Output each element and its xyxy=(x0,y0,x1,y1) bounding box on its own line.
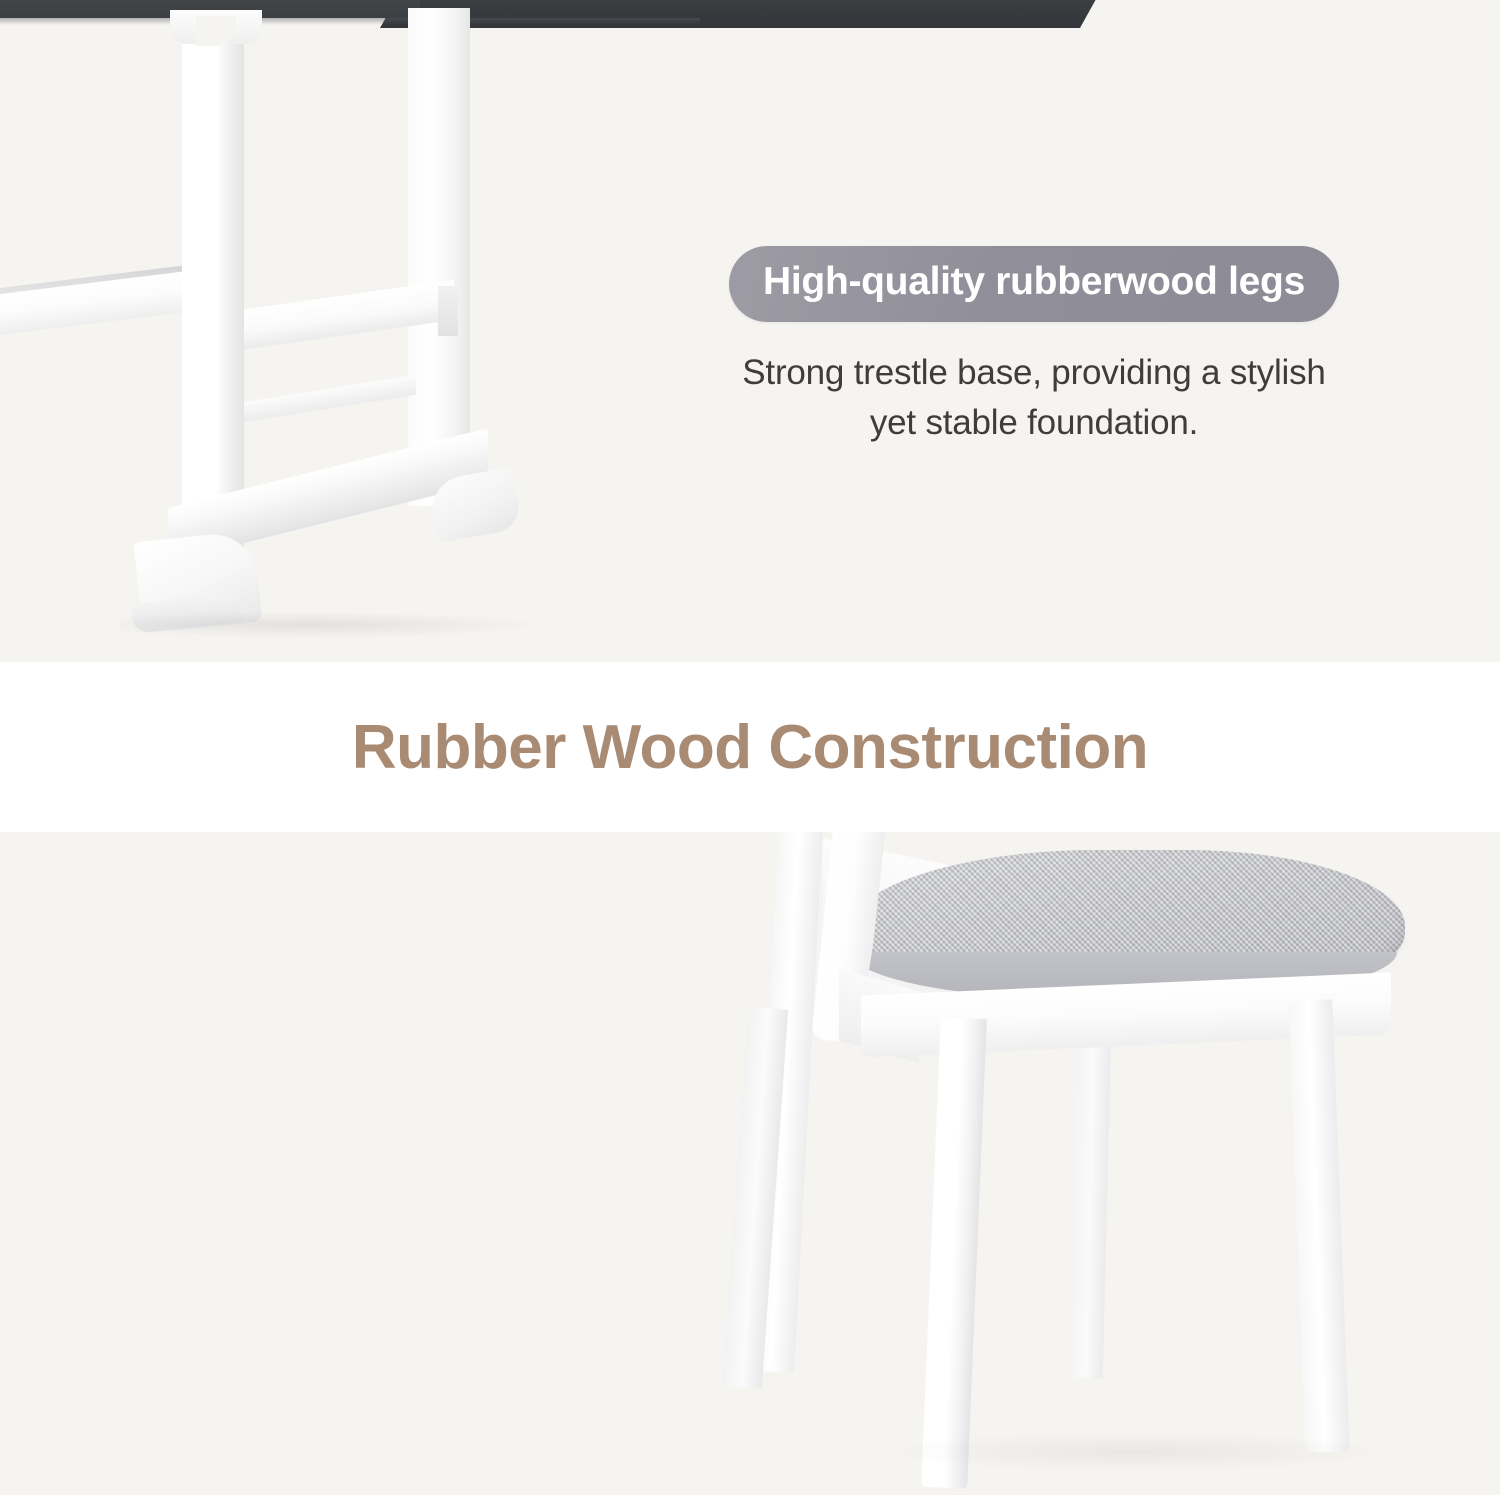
feature-badge-rubberwood-legs: High-quality rubberwood legs xyxy=(729,246,1339,322)
chair-floor-shadow xyxy=(875,1432,1395,1472)
chair-leg-front-left xyxy=(921,1017,987,1489)
dining-chair-photo xyxy=(735,832,1500,1495)
table-base-photo xyxy=(0,0,700,662)
page-title: Rubber Wood Construction xyxy=(352,712,1148,783)
trestle-stretcher-cap xyxy=(438,286,458,336)
feature-section-exquisite-design: Exquisite design Sophisticated design co… xyxy=(0,832,1500,1495)
chair-leg-rear-right xyxy=(1069,1032,1111,1379)
description-line: yet stable foundation. xyxy=(678,398,1390,448)
section-title-band: Rubber Wood Construction xyxy=(0,662,1500,832)
table-base-floor-shadow xyxy=(120,612,540,638)
feature-section-rubberwood-legs: High-quality rubberwood legs Strong tres… xyxy=(0,0,1500,662)
trestle-post-rear xyxy=(408,8,470,506)
product-infographic: High-quality rubberwood legs Strong tres… xyxy=(0,0,1500,1495)
chair-leg-front-right xyxy=(1288,999,1349,1452)
feature-description-rubberwood-legs: Strong trestle base, providing a stylish… xyxy=(678,348,1390,447)
description-line: Strong trestle base, providing a stylish xyxy=(678,348,1390,398)
feature-text-rubberwood-legs: High-quality rubberwood legs Strong tres… xyxy=(678,246,1390,447)
tabletop-shadow xyxy=(0,18,700,25)
